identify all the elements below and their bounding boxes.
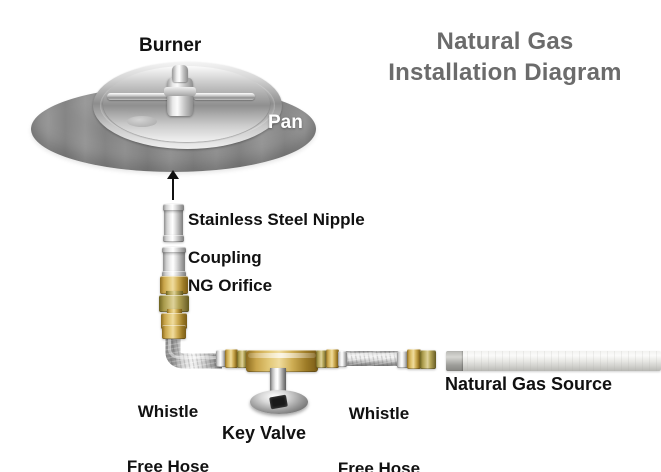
label-hose-right-line2: Free Hose	[333, 460, 425, 472]
hose-assembly	[0, 0, 661, 472]
hose-right-ferrule	[338, 351, 347, 367]
label-hose-left-line1: Whistle	[118, 403, 218, 421]
label-whistle-free-hose-right: Whistle Free Hose	[333, 368, 425, 472]
label-hose-left-line2: Free Hose	[118, 458, 218, 472]
diagram-canvas: Natural Gas Installation Diagram Burner …	[0, 0, 661, 472]
gas-pipe-texture	[446, 351, 661, 371]
key-valve-body-highlight	[248, 353, 316, 358]
hose-left-top-fitting	[162, 325, 186, 339]
gas-pipe-threaded-end	[446, 351, 463, 371]
gas-source-adapter	[420, 350, 436, 369]
hose-end-nut	[407, 349, 421, 369]
whistle-free-hose-right-path	[344, 351, 400, 366]
label-hose-right-line1: Whistle	[333, 405, 425, 423]
label-whistle-free-hose-left: Whistle Free Hose	[118, 366, 218, 472]
label-natural-gas-source: Natural Gas Source	[445, 375, 612, 394]
label-key-valve: Key Valve	[222, 424, 306, 443]
